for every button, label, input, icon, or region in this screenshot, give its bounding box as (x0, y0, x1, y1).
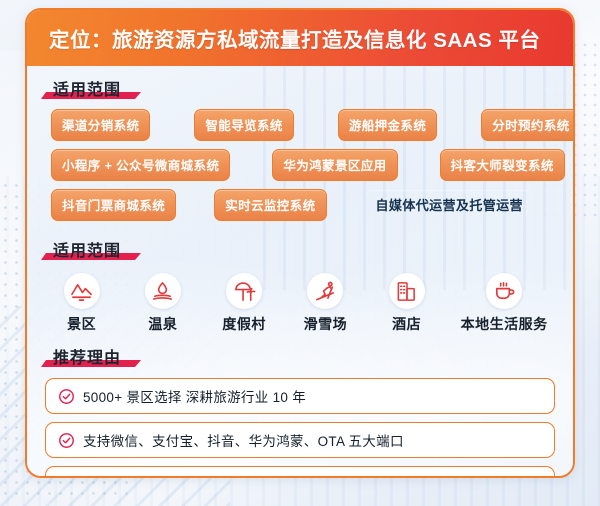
check-circle-icon (58, 388, 75, 405)
tag-row: 小程序 + 公众号微商城系统 华为鸿蒙景区应用 抖客大师裂变系统 (45, 149, 555, 181)
card-content: 适用范围 渠道分销系统 智能导览系统 游船押金系统 分时预约系统 小程序 + 公… (27, 66, 573, 478)
industry-icon-row: 景区 温泉 (27, 267, 573, 334)
system-tag[interactable]: 实时云监控系统 (214, 189, 326, 221)
reason-text: 支持微信、支付宝、抖音、华为鸿蒙、OTA 五大端口 (83, 430, 404, 450)
check-circle-icon (58, 475, 75, 478)
industry-label: 滑雪场 (285, 314, 366, 334)
industry-item-hot-spring[interactable]: 温泉 (122, 273, 203, 334)
system-tag[interactable]: 抖音门票商城系统 (51, 189, 176, 221)
industry-item-local-life-services[interactable]: 本地生活服务 (447, 273, 561, 334)
coffee-cup-icon (486, 273, 522, 309)
skier-icon (307, 273, 343, 309)
industry-label: 景区 (41, 314, 122, 334)
reason-row: 5000+ 景区选择 深耕旅游行业 10 年 (45, 378, 555, 414)
reason-row: 支持微信、支付宝、抖音、华为鸿蒙、OTA 五大端口 (45, 422, 555, 458)
industry-label: 本地生活服务 (447, 314, 561, 334)
system-tag[interactable]: 分时预约系统 (481, 109, 575, 141)
section-heading-label: 适用范围 (47, 243, 127, 260)
section-heading-label: 适用范围 (47, 82, 127, 99)
system-tag[interactable]: 游船押金系统 (338, 109, 437, 141)
system-tag[interactable]: 华为鸿蒙景区应用 (272, 149, 397, 181)
card-header-banner: 定位：旅游资源方私域流量打造及信息化 SAAS 平台 (27, 10, 573, 66)
system-tag[interactable]: 渠道分销系统 (51, 109, 150, 141)
reason-text: 国家高新技术企业 、中关村高新技术企业、北股交挂牌上市企业 (83, 474, 459, 478)
system-tag-list: 渠道分销系统 智能导览系统 游船押金系统 分时预约系统 小程序 + 公众号微商城… (27, 106, 573, 221)
check-circle-icon (58, 432, 75, 449)
industry-label: 度假村 (204, 314, 285, 334)
hot-spring-icon (145, 273, 181, 309)
industry-item-scenic-area[interactable]: 景区 (41, 273, 122, 334)
tag-row: 渠道分销系统 智能导览系统 游船押金系统 分时预约系统 (45, 109, 555, 141)
system-tag[interactable]: 智能导览系统 (194, 109, 293, 141)
info-card: 定位：旅游资源方私域流量打造及信息化 SAAS 平台 适用范围 渠道分销系统 智… (25, 8, 575, 478)
industry-label: 温泉 (122, 314, 203, 334)
tag-row: 抖音门票商城系统 实时云监控系统 自媒体代运营及托管运营 (45, 189, 555, 221)
system-tag[interactable]: 小程序 + 公众号微商城系统 (51, 149, 230, 181)
system-tag[interactable]: 自媒体代运营及托管运营 (365, 189, 534, 221)
reason-row: 国家高新技术企业 、中关村高新技术企业、北股交挂牌上市企业 (45, 466, 555, 478)
page-title: 定位：旅游资源方私域流量打造及信息化 SAAS 平台 (49, 23, 540, 53)
industry-label: 酒店 (366, 314, 447, 334)
system-tag[interactable]: 抖客大师裂变系统 (440, 149, 565, 181)
industry-item-ski-resort[interactable]: 滑雪场 (285, 273, 366, 334)
section-heading-reasons: 推荐理由 (47, 344, 127, 368)
hotel-building-icon (389, 273, 425, 309)
industry-item-resort[interactable]: 度假村 (204, 273, 285, 334)
section-heading-scope-systems: 适用范围 (47, 76, 127, 100)
section-heading-label: 推荐理由 (47, 350, 127, 367)
section-heading-scope-industries: 适用范围 (47, 237, 127, 261)
beach-umbrella-icon (226, 273, 262, 309)
industry-item-hotel[interactable]: 酒店 (366, 273, 447, 334)
reason-list: 5000+ 景区选择 深耕旅游行业 10 年 支持微信、支付宝、抖音、华为鸿蒙、… (27, 374, 573, 478)
reason-text: 5000+ 景区选择 深耕旅游行业 10 年 (83, 386, 306, 406)
mountain-scenic-icon (64, 273, 100, 309)
